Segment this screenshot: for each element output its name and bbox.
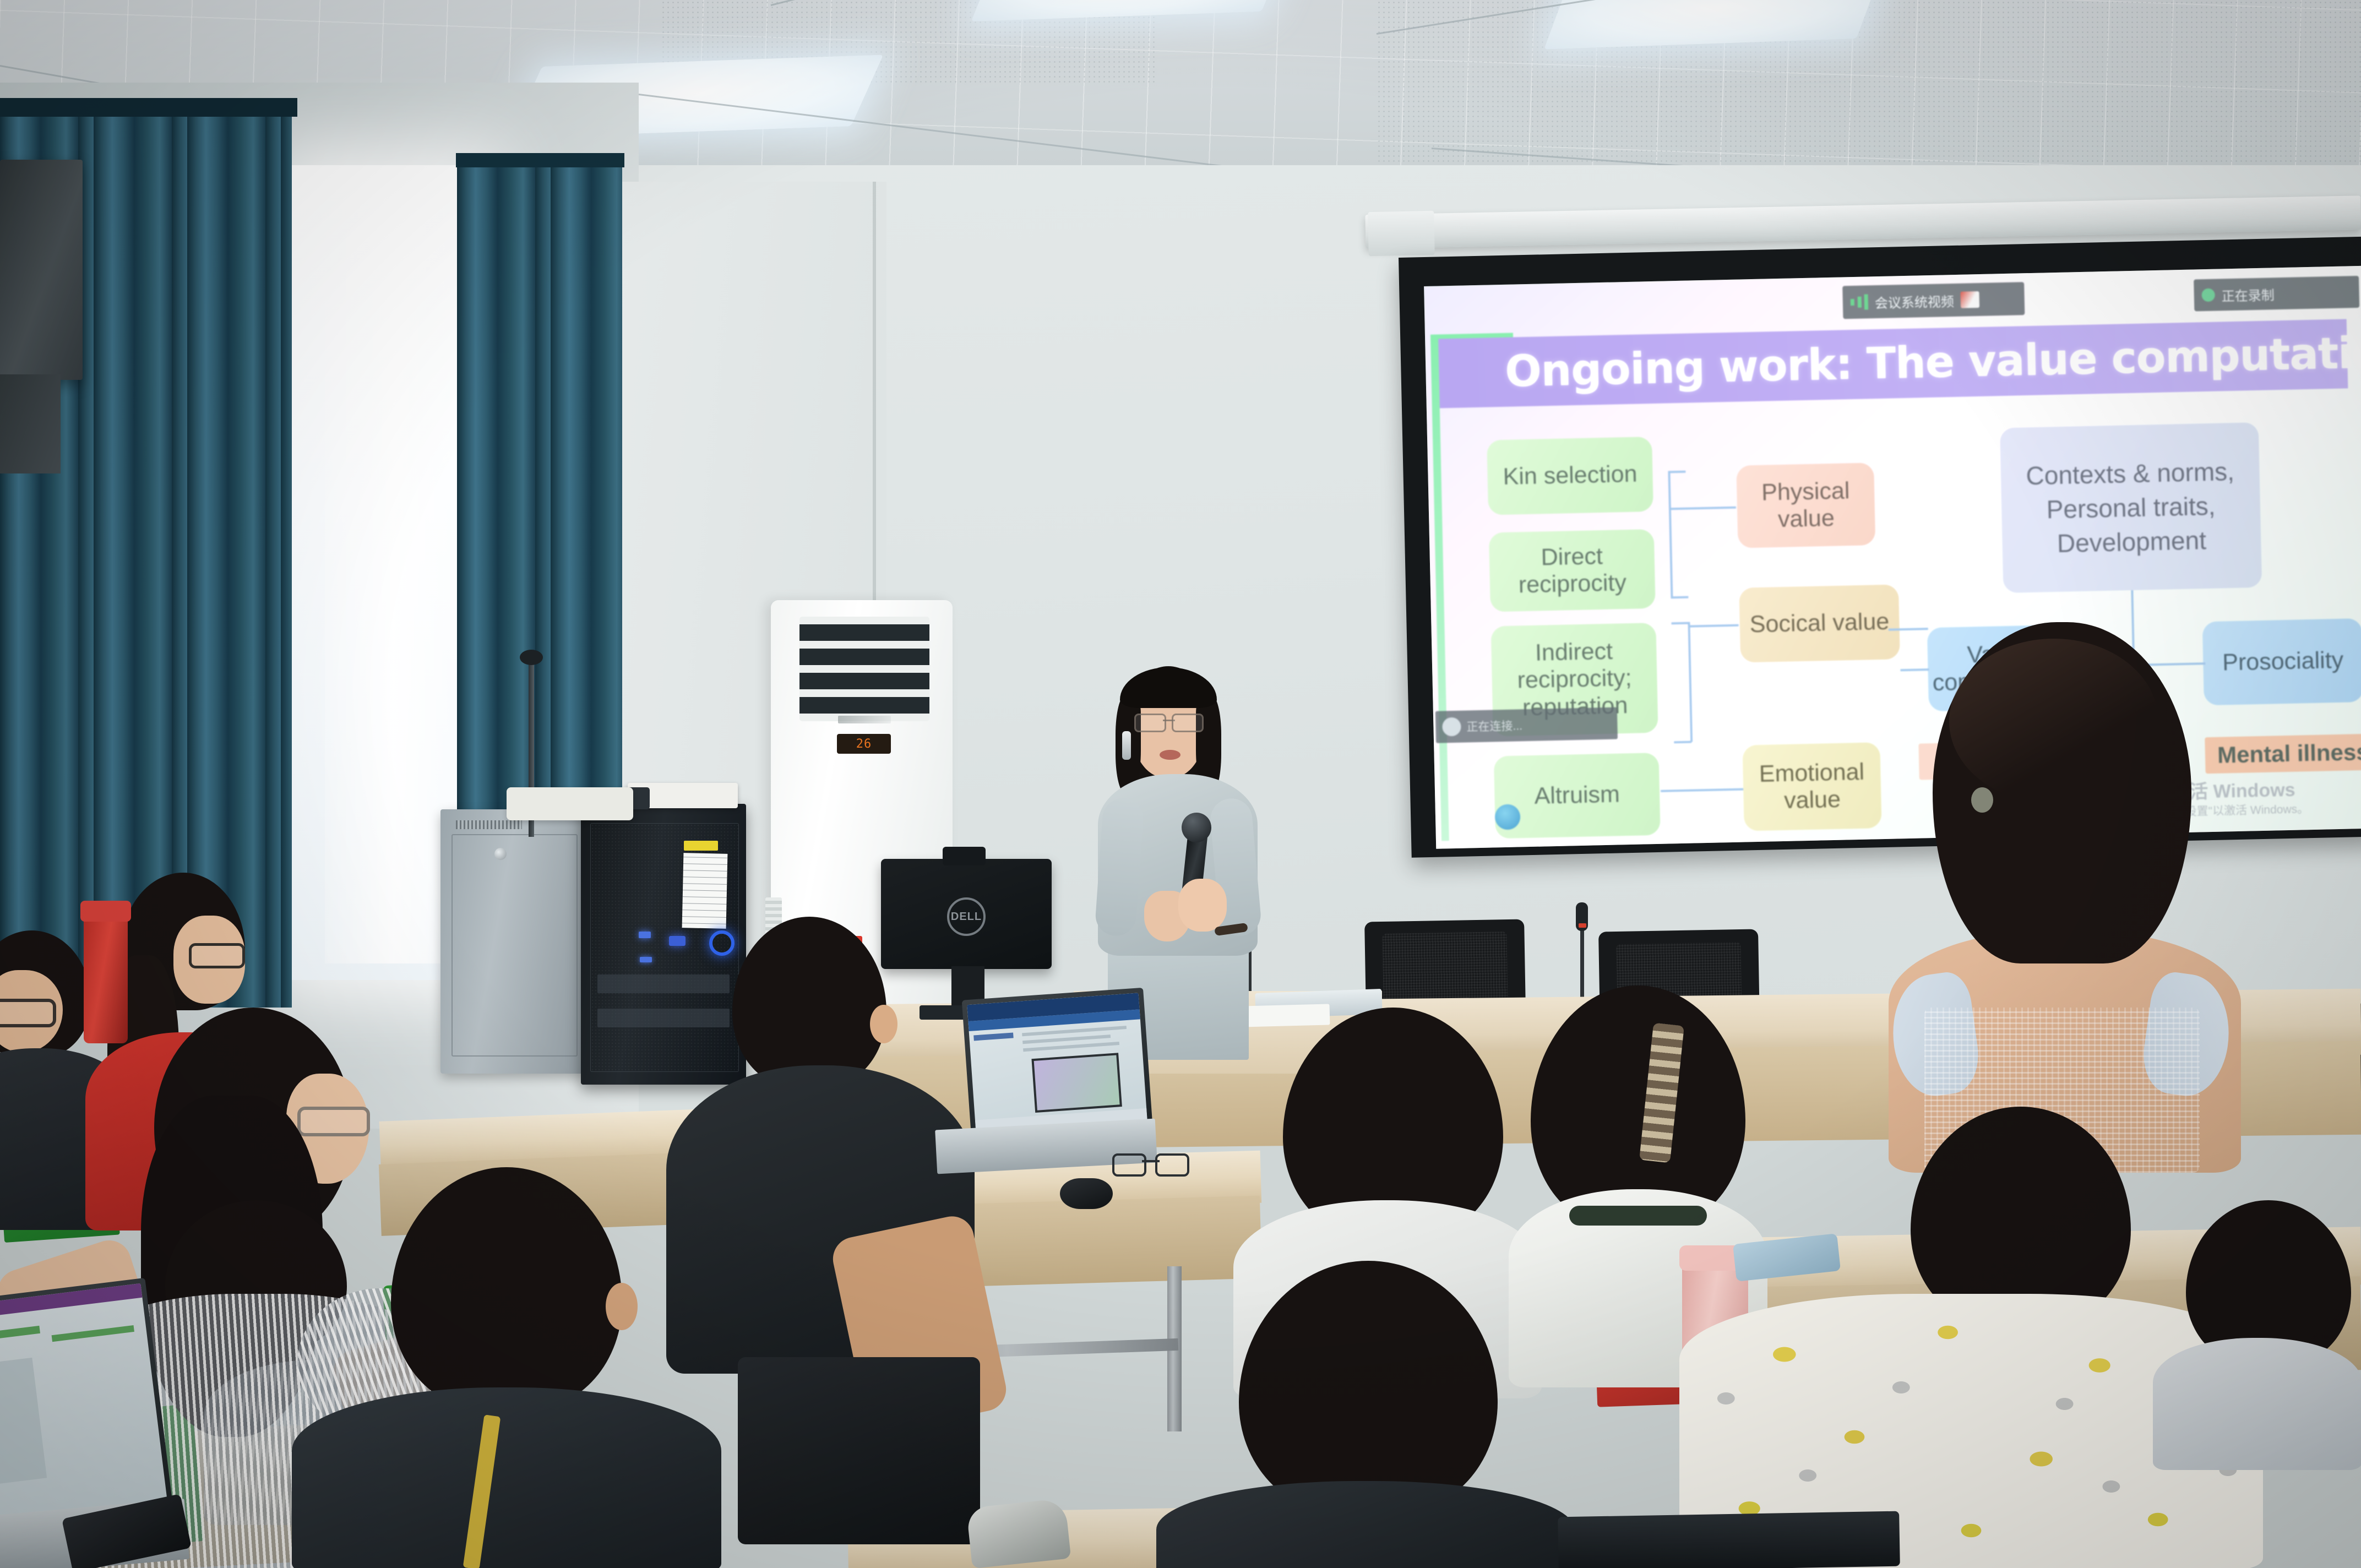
cabinet-vent xyxy=(456,820,522,829)
slide-node-kin-selection-label: Kin selection xyxy=(1503,461,1638,491)
laptop-foreground[interactable] xyxy=(0,1278,173,1530)
wall-speaker xyxy=(0,160,83,380)
head xyxy=(1239,1261,1498,1514)
presenter-mouth xyxy=(1160,750,1180,760)
floor-microphone-base xyxy=(507,787,633,820)
slide-node-direct-reciprocity: Direct reciprocity xyxy=(1489,529,1656,612)
glasses-icon xyxy=(297,1107,370,1136)
audience-member-right-rear xyxy=(2153,1200,2361,1464)
laptop-centre[interactable] xyxy=(962,988,1153,1137)
slide-connector-h4 xyxy=(1671,622,1689,625)
presenter-glasses xyxy=(1134,714,1204,730)
computer-mouse[interactable] xyxy=(1060,1178,1113,1209)
conference-badge-label: 会议系统视频 xyxy=(1874,291,1954,312)
slide-node-modulators: Contexts & norms, Personal traits, Devel… xyxy=(2000,422,2262,593)
slide-title: Ongoing work: The value computation xyxy=(1438,328,2361,399)
projector-screen-housing-endcap xyxy=(1368,211,1435,256)
glasses-icon xyxy=(189,943,245,968)
head xyxy=(732,917,886,1087)
slide-connector-h6 xyxy=(1688,624,1739,628)
legs xyxy=(738,1357,980,1544)
presenter-earring xyxy=(1122,731,1131,760)
presenter-fringe xyxy=(1120,667,1217,708)
webcam-icon xyxy=(943,847,986,865)
shoulders xyxy=(292,1387,721,1568)
ear xyxy=(870,1005,897,1043)
slide-connector-h3 xyxy=(1669,507,1736,510)
standing-attendee-hair-highlight xyxy=(1949,639,2158,804)
curtain-rail-middle xyxy=(456,153,624,167)
shoe xyxy=(966,1498,1071,1568)
laptop-centre-screen-content xyxy=(967,993,1147,1132)
wall-speaker-lower xyxy=(0,374,61,473)
curtain-rail-left xyxy=(0,98,297,117)
slide-node-direct-reciprocity-label: Direct reciprocity xyxy=(1517,542,1626,599)
shoulders xyxy=(1156,1481,1575,1568)
slide-node-modulators-label: Contexts & norms, Personal traits, Devel… xyxy=(2026,454,2236,561)
slide-node-altruism-label: Altruism xyxy=(1534,781,1620,810)
eyeglasses-on-desk[interactable] xyxy=(1112,1153,1189,1173)
slide-node-emotional-value: Emotional value xyxy=(1742,742,1881,831)
cabinet-door xyxy=(451,834,578,1057)
slide-connector-h7 xyxy=(1661,788,1743,792)
standing-attendee-glasses-glint xyxy=(1971,787,1993,813)
recording-badge-label: 正在录制 xyxy=(2221,284,2275,304)
cabinet-lock-icon xyxy=(494,848,507,860)
slide-connector-h1 xyxy=(1668,471,1685,473)
recording-dot-icon xyxy=(2201,288,2215,302)
slide-title-bar: Ongoing work: The value computation xyxy=(1438,319,2348,408)
red-thermos-cap[interactable] xyxy=(80,901,131,922)
air-conditioner-brand-plate xyxy=(838,716,891,723)
lecture-room-photo: Ongoing work: The value computation 会议系统… xyxy=(0,0,2361,1568)
av-rack-led-indicator-2 xyxy=(639,932,651,938)
floor-microphone-head xyxy=(520,650,543,665)
ear xyxy=(606,1283,638,1330)
slide-taskbar-popup-label: 正在连接... xyxy=(1466,717,1522,734)
laptop-screen-content xyxy=(0,1283,167,1525)
shoulders xyxy=(2153,1338,2361,1470)
slide-taskbar-popup: 正在连接... xyxy=(1435,707,1618,743)
air-conditioner-vent xyxy=(799,617,929,721)
air-conditioner-display: 26 xyxy=(837,734,891,754)
slide-node-emotional-value-label: Emotional value xyxy=(1759,758,1865,815)
av-rack-warning-label xyxy=(684,841,718,851)
slide-node-kin-selection: Kin selection xyxy=(1487,437,1653,515)
head xyxy=(391,1167,622,1409)
audience-member-lanyard xyxy=(292,1167,721,1568)
signal-bars-icon xyxy=(1851,294,1869,310)
slide-connector-v2 xyxy=(1688,622,1693,742)
slide-connector-h5 xyxy=(1674,741,1691,744)
slide-node-physical-value: Physical value xyxy=(1736,462,1875,548)
slide-node-physical-value-label: Physical value xyxy=(1761,477,1851,533)
slide-connector-h2 xyxy=(1671,596,1688,599)
audience-member-foreground-centre xyxy=(1156,1261,1575,1568)
av-rack-led-indicator-3 xyxy=(640,957,652,962)
thumbnail-icon xyxy=(1960,291,1979,308)
glasses-icon xyxy=(0,999,56,1027)
app-icon xyxy=(1442,717,1461,737)
conference-system-badge: 会议系统视频 xyxy=(1842,282,2025,319)
recording-badge: 正在录制 xyxy=(2194,276,2359,312)
slide-node-altruism: Altruism xyxy=(1494,753,1661,839)
laptop-right-foreground[interactable] xyxy=(1558,1511,1900,1568)
presenter-right-hand xyxy=(1178,879,1227,932)
standing-attendee xyxy=(1867,622,2252,1173)
slide-connector-v1 xyxy=(1668,471,1673,597)
